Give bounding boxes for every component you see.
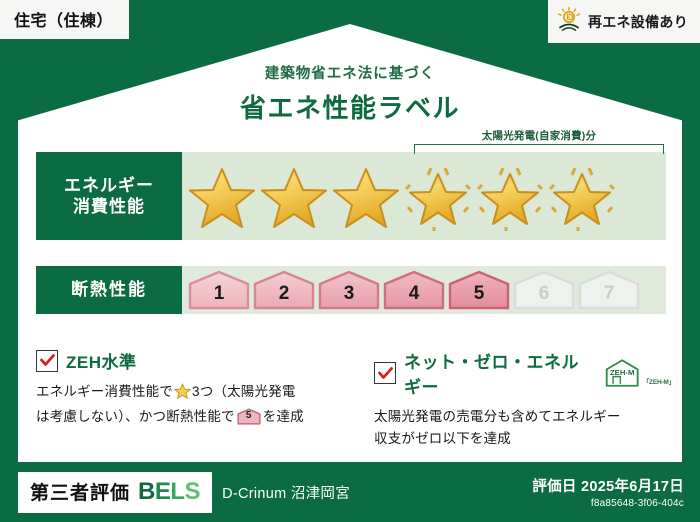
energy-performance-row: エネルギー 消費性能 太陽光発電(自家消費)分	[36, 152, 666, 240]
bels-jp-label: 第三者評価	[30, 478, 130, 505]
energy-label-line1: エネルギー	[64, 175, 154, 196]
star-plain	[186, 162, 258, 234]
zeh-m-logo: ZEH-M 「ZEH-M」	[604, 357, 672, 389]
zeh-criteria-column: ZEH水準 エネルギー消費性能で3つ（太陽光発電 は考慮しない）、かつ断熱性能で…	[36, 348, 356, 451]
energy-label-line2: 消費性能	[73, 196, 145, 217]
insulation-badge: 4	[383, 270, 445, 310]
insulation-badge: 1	[188, 270, 250, 310]
net-zero-desc-line1: 太陽光発電の売電分も含めてエネルギー	[374, 409, 621, 424]
bels-evaluation-tag: 第三者評価 BELS	[18, 472, 212, 513]
insulation-label: 断熱性能	[71, 279, 147, 300]
energy-star-rating	[186, 162, 618, 234]
insulation-badge-value: 6	[539, 284, 550, 310]
star-plain	[258, 162, 330, 234]
net-zero-heading: ネット・ゼロ・エネルギー ZEH-M 「ZEH-M」	[374, 348, 672, 398]
page-title: 省エネ性能ラベル	[0, 88, 700, 125]
star-solar	[546, 162, 618, 234]
net-zero-description: 太陽光発電の売電分も含めてエネルギー 収支がゼロ以下を達成	[374, 406, 672, 451]
insulation-badge: 3	[318, 270, 380, 310]
sun-icon	[556, 6, 582, 37]
insulation-badge-value: 2	[279, 284, 290, 310]
footer-meta: 評価日 2025年6月17日 f8a85648-3f06-404c	[532, 475, 684, 509]
bels-letter-s: S	[185, 478, 201, 505]
inline-star-icon	[174, 383, 191, 406]
bels-letter-b: B	[138, 478, 155, 505]
zeh-description: エネルギー消費性能で3つ（太陽光発電 は考慮しない）、かつ断熱性能で5を達成	[36, 381, 356, 429]
insulation-badge-inactive: 7	[578, 270, 640, 310]
zeh-desc-part1: エネルギー消費性能で	[36, 384, 173, 399]
title-block: 建築物省エネ法に基づく 省エネ性能ラベル	[0, 62, 700, 125]
energy-stars-body: 太陽光発電(自家消費)分	[182, 152, 666, 240]
renewable-energy-badge: 再エネ設備あり	[548, 0, 700, 43]
insulation-badge-value: 4	[409, 284, 420, 310]
check-icon	[36, 350, 58, 372]
insulation-badge-value: 7	[604, 284, 615, 310]
inline-badge-value: 5	[237, 408, 261, 425]
insulation-performance-label-box: 断熱性能	[36, 266, 182, 314]
zeh-logo-caption: 「ZEH-M」	[643, 376, 672, 389]
bels-letter-e: E	[155, 478, 171, 505]
star-plain	[330, 162, 402, 234]
evaluation-date: 評価日 2025年6月17日	[532, 475, 684, 496]
star-solar	[402, 162, 474, 234]
criteria-columns: ZEH水準 エネルギー消費性能で3つ（太陽光発電 は考慮しない）、かつ断熱性能で…	[36, 348, 672, 451]
title-subtitle: 建築物省エネ法に基づく	[0, 62, 700, 83]
net-zero-desc-line2: 収支がゼロ以下を達成	[374, 431, 511, 446]
zeh-heading: ZEH水準	[36, 348, 356, 373]
net-zero-title: ネット・ゼロ・エネルギー	[404, 348, 595, 398]
insulation-badge-value: 1	[214, 284, 225, 310]
insulation-badge: 2	[253, 270, 315, 310]
inline-insulation-badge-icon: 5	[237, 408, 261, 425]
insulation-badge-value: 5	[474, 284, 485, 310]
evaluation-id: f8a85648-3f06-404c	[532, 498, 684, 509]
zeh-desc-part2: 3つ（太陽光発電	[192, 384, 296, 399]
zeh-title: ZEH水準	[66, 348, 137, 373]
zeh-desc-part4: を達成	[263, 409, 304, 424]
zeh-desc-part3: は考慮しない）、かつ断熱性能で	[36, 409, 235, 424]
insulation-performance-row: 断熱性能 1	[36, 266, 666, 314]
renewable-badge-label: 再エネ設備あり	[588, 12, 688, 32]
property-name: D-Crinum 沼津岡宮	[222, 482, 350, 503]
insulation-badge-inactive: 6	[513, 270, 575, 310]
insulation-badge-value: 3	[344, 284, 355, 310]
net-zero-criteria-column: ネット・ゼロ・エネルギー ZEH-M 「ZEH-M」 太陽光発電の売電分も含めて…	[374, 348, 672, 451]
insulation-badge-achieved: 5	[448, 270, 510, 310]
check-icon	[374, 362, 396, 384]
insulation-badges-body: 1 2 3	[182, 266, 666, 314]
bels-letter-l: L	[170, 478, 184, 505]
insulation-grade-scale: 1 2 3	[188, 270, 640, 310]
star-solar	[474, 162, 546, 234]
svg-text:ZEH-M: ZEH-M	[610, 368, 634, 377]
energy-performance-label-box: エネルギー 消費性能	[36, 152, 182, 240]
energy-performance-label: 住宅（住棟） 再エネ設備あり 建築物省エネ法に基づく 省エ	[0, 0, 700, 522]
label-footer: 第三者評価 BELS D-Crinum 沼津岡宮 評価日 2025年6月17日 …	[0, 462, 700, 522]
bels-wordmark: BELS	[138, 478, 200, 506]
house-type-tag: 住宅（住棟）	[0, 0, 129, 39]
